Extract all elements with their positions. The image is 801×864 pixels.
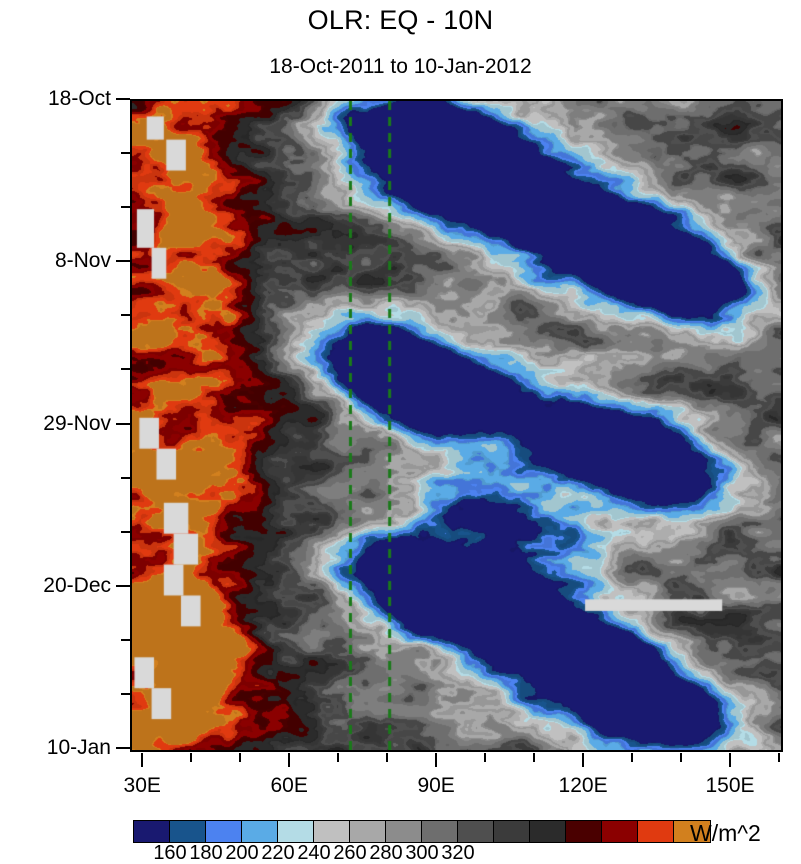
colorbar-cell[interactable]: [278, 821, 314, 842]
y-axis-minor-tick: [121, 206, 130, 208]
colorbar-tick-label: 220: [261, 843, 294, 863]
colorbar-cell[interactable]: [566, 821, 602, 842]
colorbar-tick-label: 260: [333, 843, 366, 863]
colorbar-tick-label: 240: [297, 843, 330, 863]
plot-area[interactable]: [130, 99, 783, 752]
page-title: OLR: EQ - 10N: [0, 4, 801, 36]
y-axis-major-tick: [116, 747, 130, 749]
y-axis-major-tick: [116, 585, 130, 587]
colorbar-tick-label: 280: [369, 843, 402, 863]
x-axis-minor-tick: [778, 753, 780, 762]
colorbar-tick-label: 320: [441, 843, 474, 863]
reference-lines-overlay: [132, 101, 781, 750]
x-axis-minor-tick: [239, 753, 241, 762]
x-axis-minor-tick: [680, 753, 682, 762]
colorbar-cell[interactable]: [530, 821, 566, 842]
y-axis-minor-tick: [121, 693, 130, 695]
x-axis-minor-tick: [631, 753, 633, 762]
x-axis-label: 90E: [417, 775, 454, 796]
colorbar-cell[interactable]: [170, 821, 206, 842]
x-axis-major-tick: [141, 753, 143, 767]
x-axis-major-tick: [729, 753, 731, 767]
y-axis-minor-tick: [121, 314, 130, 316]
x-axis-label: 150E: [705, 775, 754, 796]
y-axis-major-tick: [116, 260, 130, 262]
y-axis-label: 20-Dec: [43, 575, 111, 596]
colorbar[interactable]: [133, 820, 711, 843]
y-axis-minor-tick: [121, 477, 130, 479]
colorbar-cell[interactable]: [422, 821, 458, 842]
subtitle: 18-Oct-2011 to 10-Jan-2012: [0, 54, 801, 80]
x-axis-label: 120E: [559, 775, 608, 796]
colorbar-cell[interactable]: [494, 821, 530, 842]
y-axis-label: 8-Nov: [55, 250, 111, 271]
colorbar-tick-label: 180: [189, 843, 222, 863]
x-axis-label: 60E: [271, 775, 308, 796]
x-axis-minor-tick: [386, 753, 388, 762]
x-axis-major-tick: [288, 753, 290, 767]
x-axis-minor-tick: [190, 753, 192, 762]
colorbar-cell[interactable]: [206, 821, 242, 842]
figure-root: OLR: EQ - 10N 18-Oct-2011 to 10-Jan-2012…: [0, 0, 801, 864]
y-axis-minor-tick: [121, 368, 130, 370]
x-axis-label: 30E: [124, 775, 161, 796]
x-axis-minor-tick: [533, 753, 535, 762]
x-axis-minor-tick: [484, 753, 486, 762]
colorbar-cell[interactable]: [638, 821, 674, 842]
y-axis-label: 29-Nov: [43, 413, 111, 434]
x-axis-minor-tick: [337, 753, 339, 762]
colorbar-cell[interactable]: [458, 821, 494, 842]
y-axis-minor-tick: [121, 152, 130, 154]
y-axis-label: 10-Jan: [47, 737, 111, 758]
y-axis-label: 18-Oct: [48, 88, 111, 109]
colorbar-cell[interactable]: [134, 821, 170, 842]
colorbar-cell[interactable]: [242, 821, 278, 842]
colorbar-units-label: W/m^2: [690, 822, 761, 845]
colorbar-cell[interactable]: [314, 821, 350, 842]
colorbar-cell[interactable]: [602, 821, 638, 842]
colorbar-cell[interactable]: [350, 821, 386, 842]
colorbar-cell[interactable]: [386, 821, 422, 842]
y-axis-minor-tick: [121, 639, 130, 641]
colorbar-tick-label: 200: [225, 843, 258, 863]
y-axis-major-tick: [116, 98, 130, 100]
colorbar-tick-label: 160: [153, 843, 186, 863]
y-axis-minor-tick: [121, 531, 130, 533]
x-axis-major-tick: [435, 753, 437, 767]
y-axis-major-tick: [116, 423, 130, 425]
colorbar-tick-label: 300: [405, 843, 438, 863]
x-axis-major-tick: [582, 753, 584, 767]
